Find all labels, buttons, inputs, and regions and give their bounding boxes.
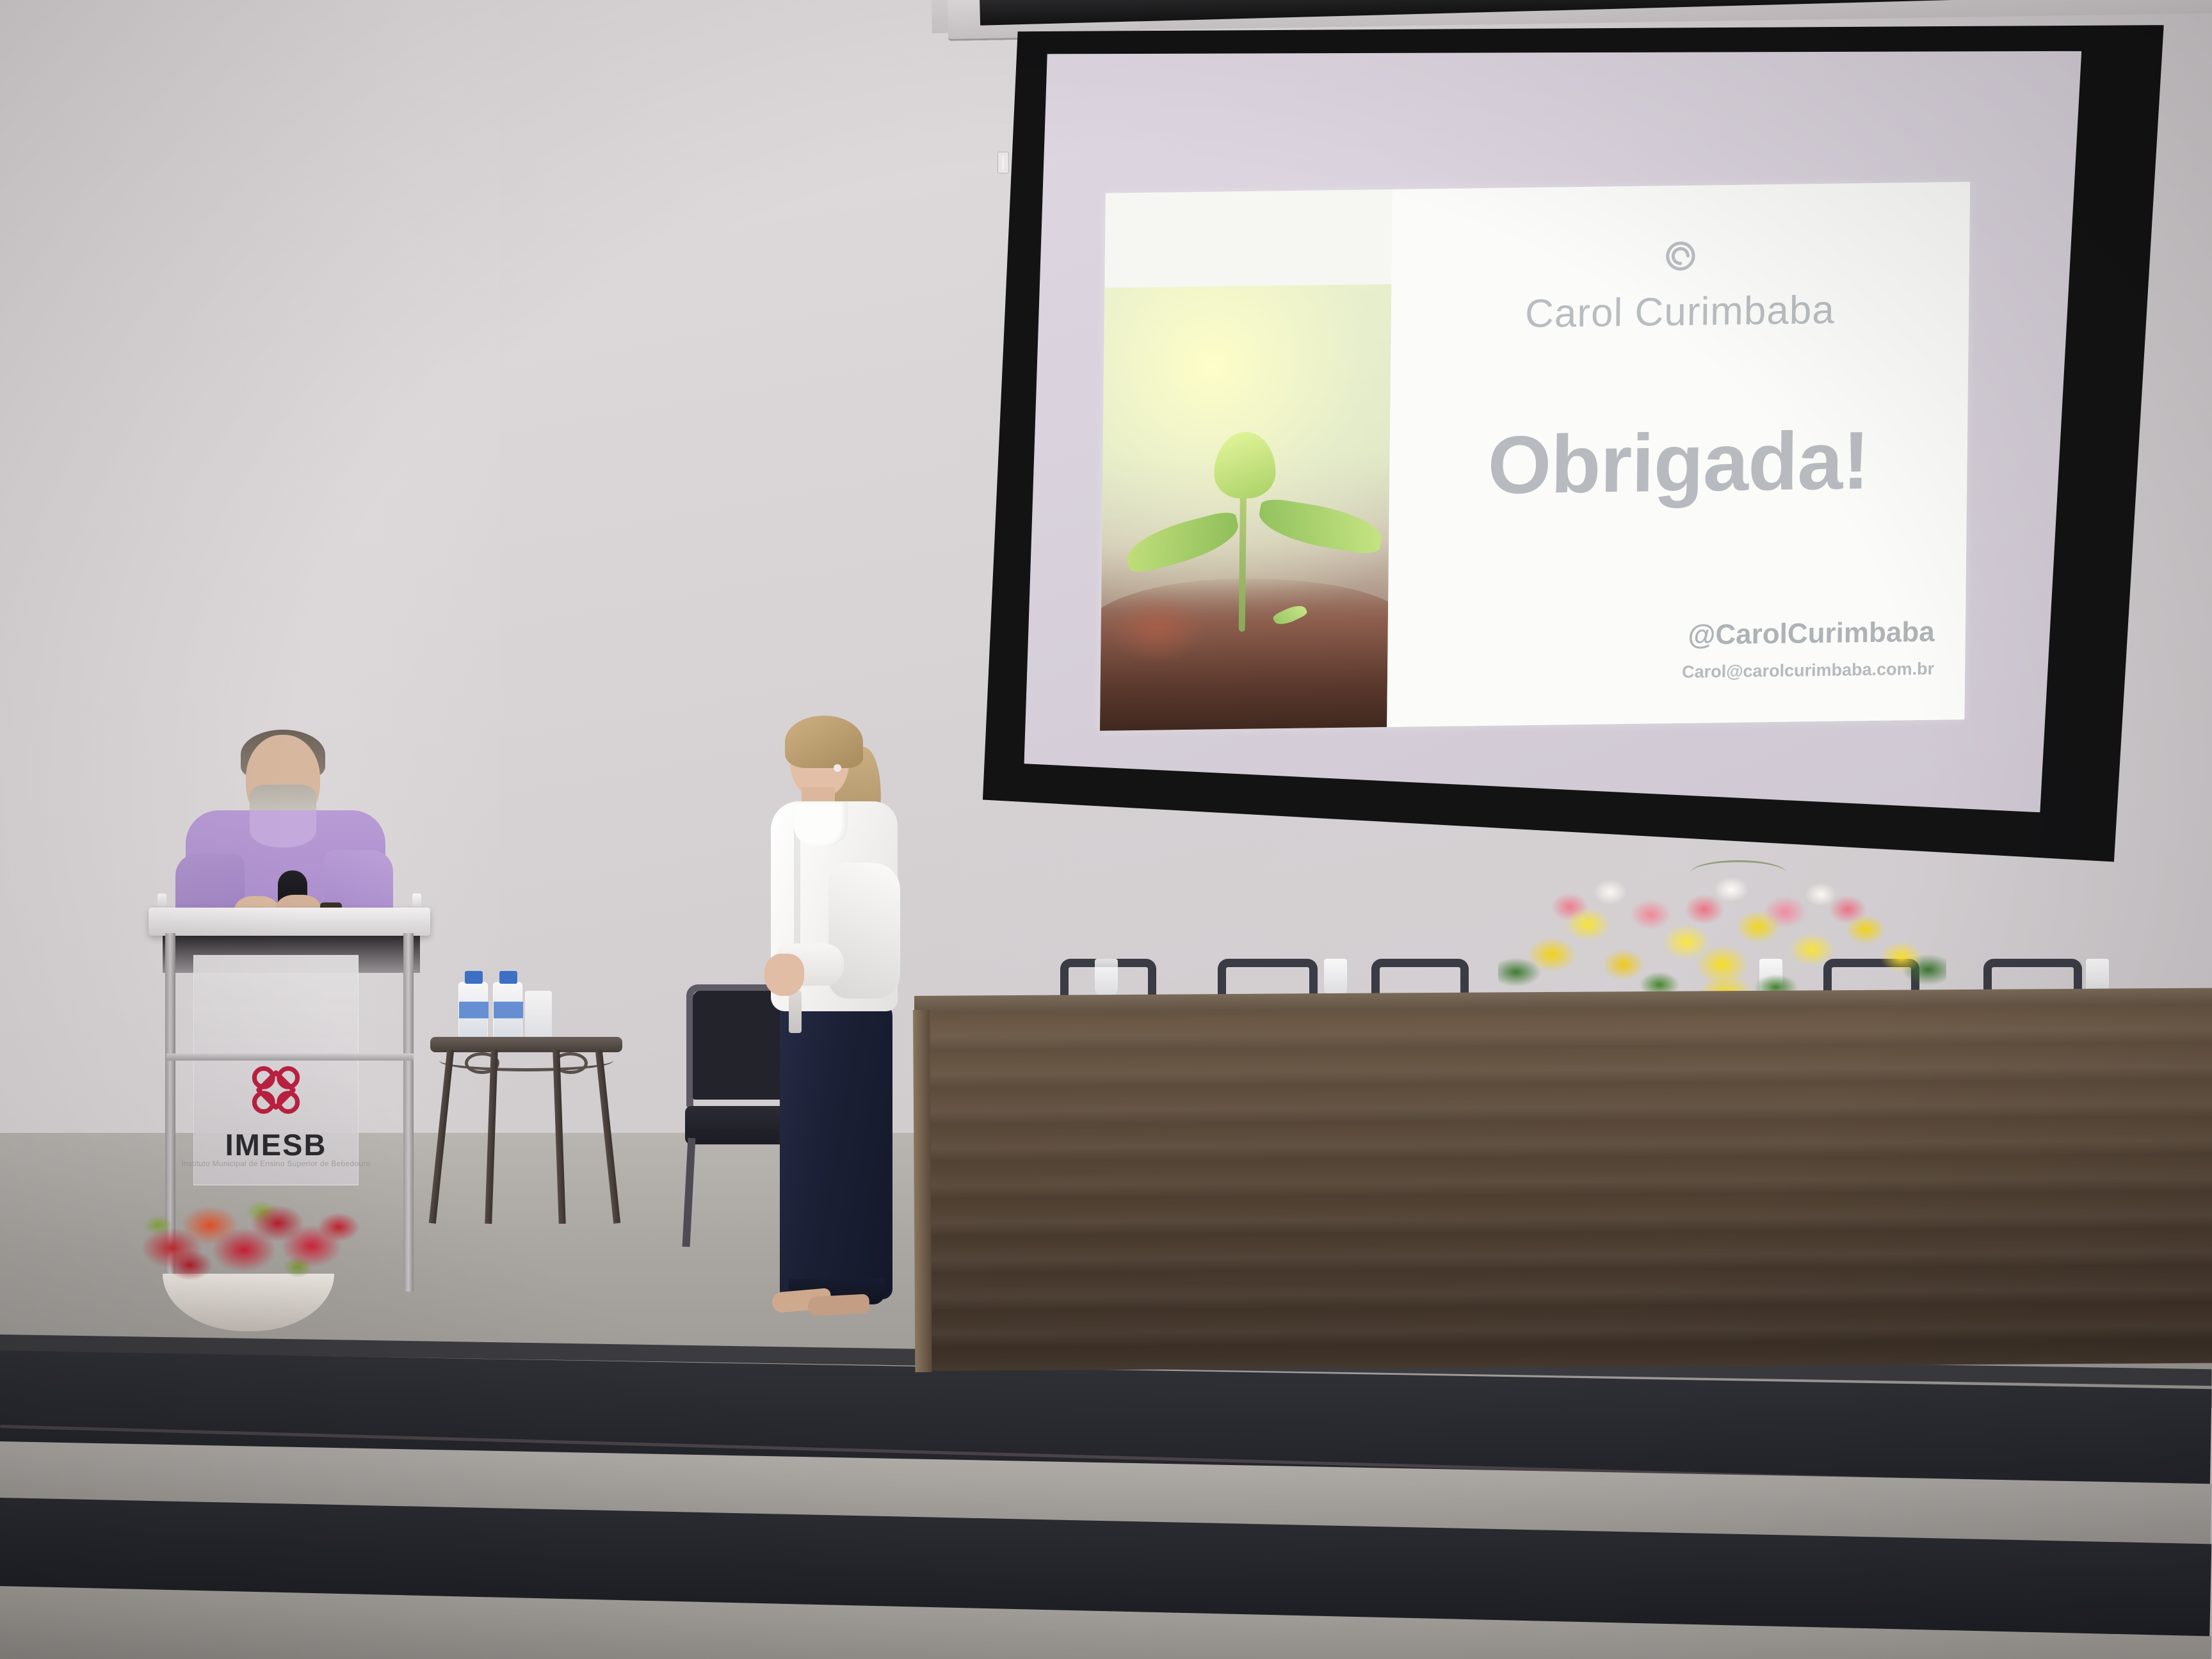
imesb-subtitle: Instituto Municipal de Ensino Superior d… bbox=[181, 1159, 370, 1169]
head-table-left-end bbox=[913, 1010, 932, 1372]
side-table-leg bbox=[429, 1050, 454, 1224]
speaker-pants bbox=[780, 998, 892, 1299]
drinking-glass bbox=[525, 991, 552, 1043]
presentation-slide: Carol Curimbaba Obrigada! @CarolCurimbab… bbox=[1100, 182, 1970, 731]
screen-projection-surface: Carol Curimbaba Obrigada! @CarolCurimbab… bbox=[1024, 40, 2081, 813]
wrought-iron-side-table bbox=[430, 960, 622, 1248]
sprout-leaf-top bbox=[1214, 431, 1276, 499]
slide-text-panel: Carol Curimbaba Obrigada! @CarolCurimbab… bbox=[1387, 182, 1970, 727]
head-table-front-panel bbox=[914, 1005, 2212, 1371]
speaker-hair bbox=[785, 716, 863, 768]
host-collar bbox=[250, 810, 316, 847]
speaker-foot-right bbox=[807, 1294, 869, 1317]
slide-title: Obrigada! bbox=[1487, 413, 1869, 513]
projection-screen: Carol Curimbaba Obrigada! @CarolCurimbab… bbox=[982, 1, 2182, 874]
speaker-earring bbox=[834, 764, 841, 772]
side-table-leg bbox=[553, 1050, 565, 1224]
slide-social-handle: @CarolCurimbaba bbox=[1688, 616, 1935, 652]
imesb-knot-icon bbox=[238, 1052, 314, 1128]
slide-brand-name: Carol Curimbaba bbox=[1525, 287, 1835, 337]
wooden-head-table bbox=[914, 996, 2212, 1380]
speaker-collar bbox=[794, 801, 848, 847]
chair-leg bbox=[682, 1138, 696, 1247]
seedling-sprout-photo bbox=[1100, 284, 1391, 731]
speaker-hands bbox=[764, 954, 804, 996]
water-bottle-2 bbox=[493, 982, 522, 1043]
water-bottle-1 bbox=[458, 982, 488, 1043]
imesb-wordmark: IMESB bbox=[225, 1127, 327, 1162]
red-flower-mass bbox=[136, 1193, 361, 1288]
podium-post bbox=[403, 933, 414, 1292]
head-table-chair bbox=[1218, 959, 1318, 998]
speaker-standing bbox=[762, 716, 909, 1330]
slide-email: Carol@carolcurimbaba.com.br bbox=[1682, 659, 1934, 682]
red-flower-bowl bbox=[131, 1183, 367, 1336]
side-table-leg bbox=[485, 1050, 497, 1224]
auditorium-scene: Carol Curimbaba Obrigada! @CarolCurimbab… bbox=[0, 0, 2212, 1659]
concentric-c-monogram-icon bbox=[1658, 233, 1704, 280]
side-table-leg bbox=[595, 1050, 620, 1224]
table-wine-glass bbox=[1095, 959, 1118, 997]
speaker-badge-lanyard bbox=[789, 991, 802, 1033]
podium-cross-rail bbox=[166, 1054, 414, 1061]
soil-area bbox=[1100, 576, 1391, 730]
sprout-leaf-left bbox=[1122, 509, 1243, 575]
table-wine-glass bbox=[1324, 959, 1347, 997]
sprout-leaf-right bbox=[1255, 497, 1385, 556]
podium-logo-panel: IMESB Instituto Municipal de Ensino Supe… bbox=[193, 955, 359, 1185]
side-table-scrollwork bbox=[439, 1050, 613, 1071]
podium-top-surface bbox=[149, 908, 430, 936]
host-at-podium bbox=[168, 735, 398, 927]
